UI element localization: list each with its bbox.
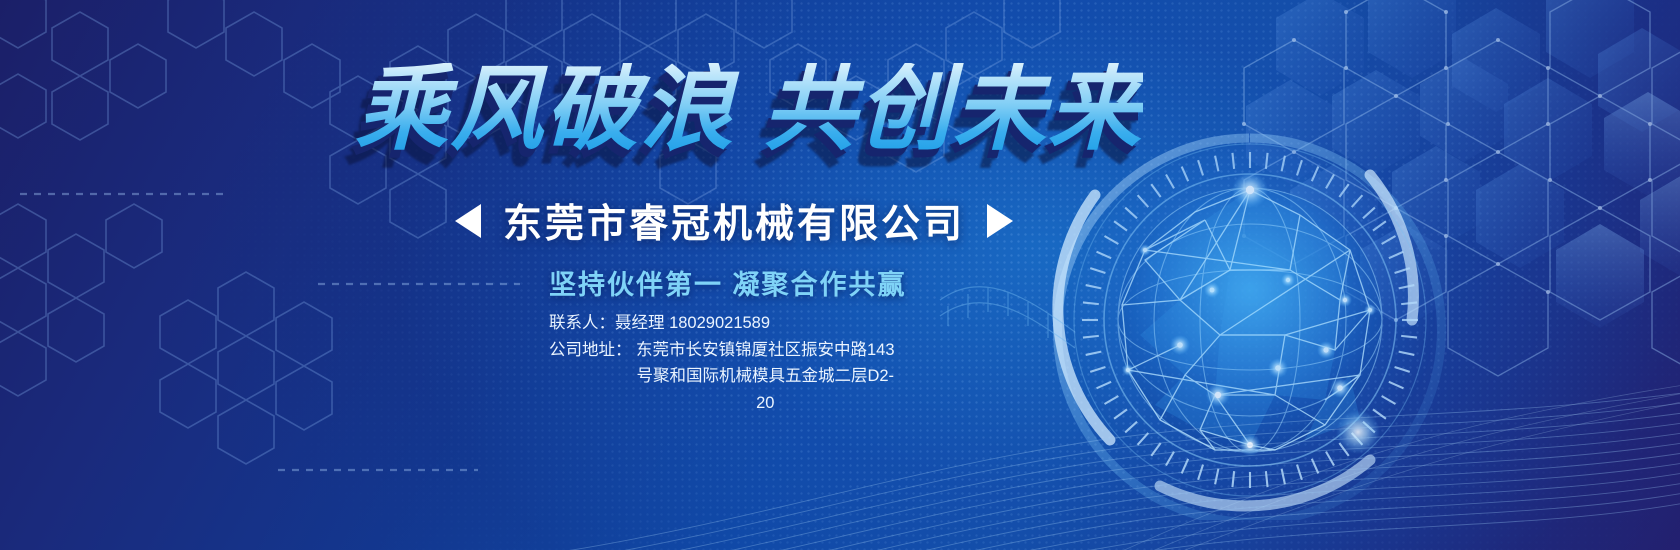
address-label: 公司地址： bbox=[549, 337, 632, 417]
contact-person-line: 联系人：聂经理 18029021589 bbox=[549, 310, 899, 337]
promo-banner: 乘风破浪 共创未来 东莞市睿冠机械有限公司 坚持伙伴第一 凝聚合作共赢 联系人：… bbox=[0, 0, 1680, 550]
left-triangle-icon bbox=[455, 204, 481, 238]
slogan: 坚持伙伴第一 凝聚合作共赢 bbox=[549, 263, 907, 302]
page-title: 乘风破浪 共创未来 bbox=[355, 63, 1143, 156]
company-name: 东莞市睿冠机械有限公司 bbox=[503, 193, 965, 249]
company-name-row: 东莞市睿冠机械有限公司 bbox=[455, 193, 1013, 249]
contact-address-line: 公司地址： 东莞市长安镇锦厦社区振安中路143号聚和国际机械模具五金城二层D2-… bbox=[549, 337, 899, 417]
address-value: 东莞市长安镇锦厦社区振安中路143号聚和国际机械模具五金城二层D2-20 bbox=[632, 337, 900, 417]
contact-block: 联系人：聂经理 18029021589 公司地址： 东莞市长安镇锦厦社区振安中路… bbox=[549, 310, 899, 417]
right-triangle-icon bbox=[987, 204, 1013, 238]
